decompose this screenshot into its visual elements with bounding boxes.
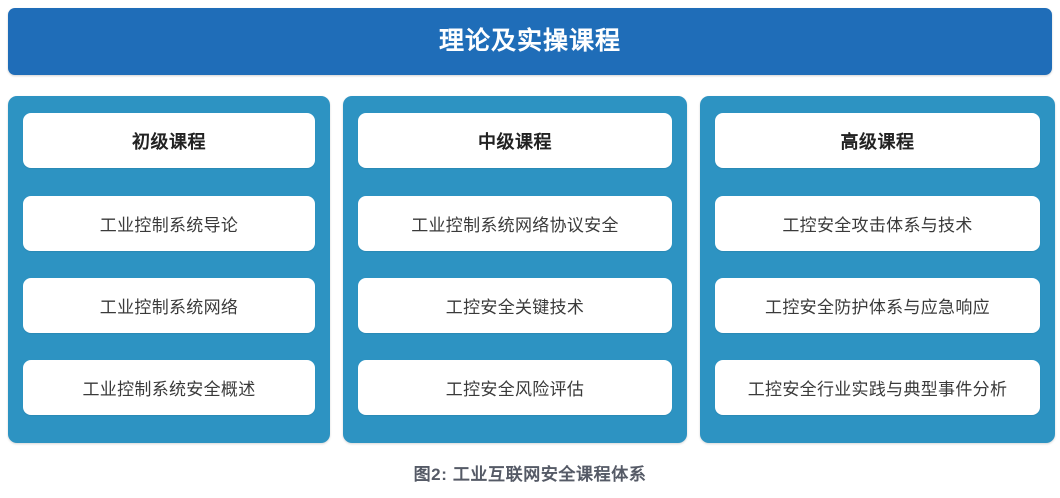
- course-item-card[interactable]: 工控安全风险评估: [358, 360, 672, 415]
- course-item-label: 工业控制系统网络: [100, 293, 238, 318]
- banner: 理论及实操课程: [8, 8, 1052, 75]
- course-item-card[interactable]: 工业控制系统网络协议安全: [358, 196, 672, 251]
- course-item-label: 工业控制系统导论: [100, 211, 238, 236]
- column-header-label: 中级课程: [478, 128, 552, 154]
- course-item-label: 工控安全防护体系与应急响应: [765, 293, 990, 318]
- course-columns: 初级课程 工业控制系统导论 工业控制系统网络 工业控制系统安全概述 中级课程 工…: [8, 96, 1052, 443]
- course-item-card[interactable]: 工业控制系统网络: [23, 278, 315, 333]
- column-header-card-beginner[interactable]: 初级课程: [23, 113, 315, 168]
- course-item-label: 工控安全攻击体系与技术: [782, 211, 972, 236]
- course-item-label: 工控安全风险评估: [446, 375, 584, 400]
- course-item-card[interactable]: 工控安全防护体系与应急响应: [715, 278, 1040, 333]
- course-column-advanced: 高级课程 工控安全攻击体系与技术 工控安全防护体系与应急响应 工控安全行业实践与…: [700, 96, 1055, 443]
- course-item-card[interactable]: 工业控制系统安全概述: [23, 360, 315, 415]
- course-item-card[interactable]: 工控安全关键技术: [358, 278, 672, 333]
- column-header-label: 初级课程: [132, 128, 206, 154]
- figure-caption: 图2: 工业互联网安全课程体系: [0, 460, 1060, 485]
- course-item-label: 工业控制系统网络协议安全: [411, 211, 619, 236]
- course-column-intermediate: 中级课程 工业控制系统网络协议安全 工控安全关键技术 工控安全风险评估: [343, 96, 687, 443]
- banner-title: 理论及实操课程: [439, 29, 621, 54]
- course-item-card[interactable]: 工控安全行业实践与典型事件分析: [715, 360, 1040, 415]
- figure-caption-text: 图2: 工业互联网安全课程体系: [414, 465, 647, 484]
- course-column-beginner: 初级课程 工业控制系统导论 工业控制系统网络 工业控制系统安全概述: [8, 96, 330, 443]
- course-item-card[interactable]: 工业控制系统导论: [23, 196, 315, 251]
- column-header-label: 高级课程: [841, 128, 915, 154]
- course-item-label: 工控安全行业实践与典型事件分析: [748, 375, 1008, 400]
- column-header-card-intermediate[interactable]: 中级课程: [358, 113, 672, 168]
- course-item-label: 工业控制系统安全概述: [83, 375, 256, 400]
- column-header-card-advanced[interactable]: 高级课程: [715, 113, 1040, 168]
- course-item-card[interactable]: 工控安全攻击体系与技术: [715, 196, 1040, 251]
- course-system-figure: 理论及实操课程 初级课程 工业控制系统导论 工业控制系统网络 工业控制系统安全概…: [0, 0, 1060, 498]
- course-item-label: 工控安全关键技术: [446, 293, 584, 318]
